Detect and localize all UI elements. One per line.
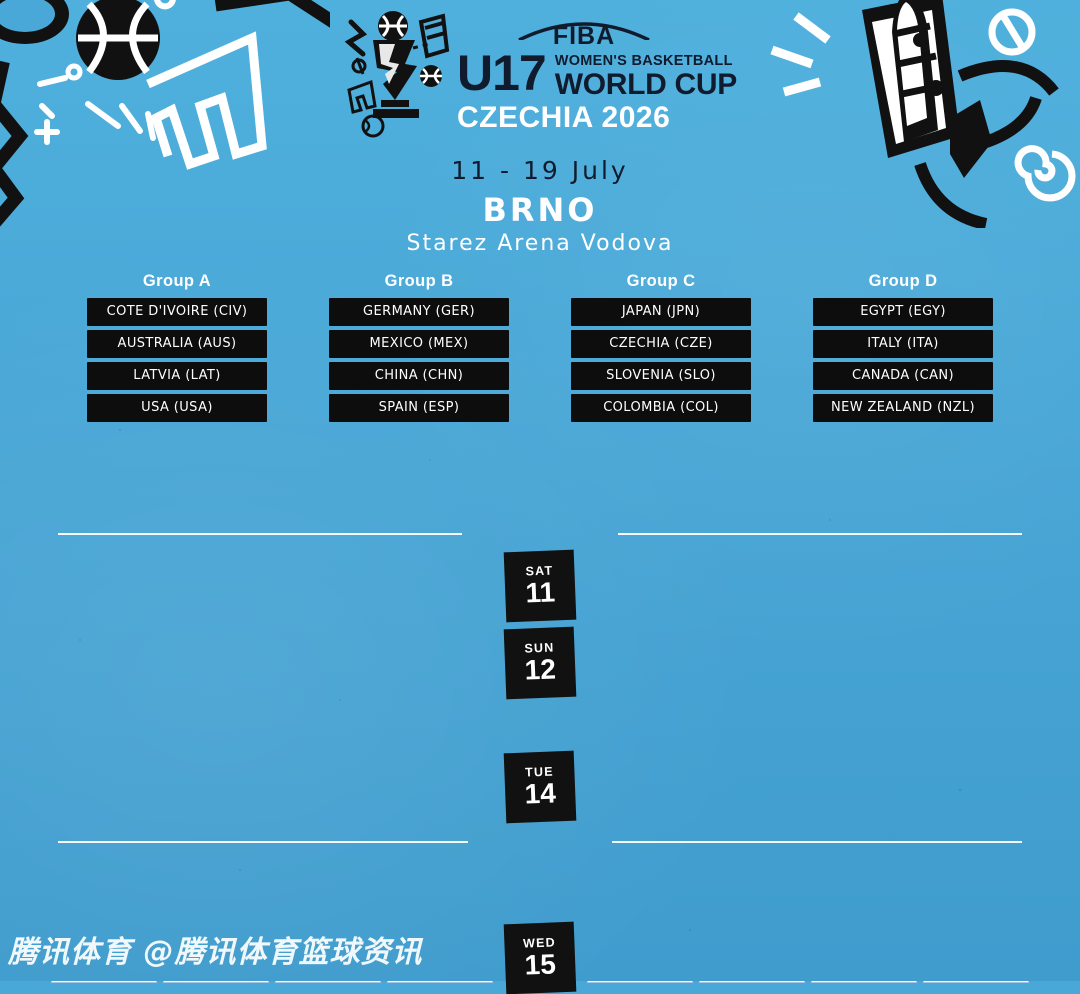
game-subtitle: (29): [590, 948, 690, 960]
game-card[interactable]: 3rd A - 2nd B(27)TIME AND VENUE TBA: [275, 923, 381, 983]
game-card-body: CHN - ESP(Group B): [387, 752, 493, 796]
game-card-body: EGY - ITA(Group D): [811, 752, 917, 796]
game-time-venue: TIME AND VENUE TBA: [387, 595, 493, 611]
game-time-venue: TIME AND VENUE TBA: [811, 595, 917, 611]
divider-rule-right: [618, 533, 1022, 535]
team-chip: GERMANY (GER): [329, 298, 509, 326]
game-card-body: MEX - CHN(Group B): [387, 551, 493, 595]
game-card[interactable]: GER - MEX(Group B)TIME AND VENUE TBA: [275, 752, 381, 812]
game-card-body: 4th A - 1st B(28): [387, 923, 493, 967]
game-matchup: MEX - CHN: [390, 559, 490, 574]
game-subtitle: (30): [702, 948, 802, 960]
date-day-of-week: SAT: [525, 564, 553, 578]
game-card[interactable]: 4th C - 1st D(32)TIME AND VENUE TBA: [923, 923, 1029, 983]
game-subtitle: (Group A): [54, 576, 154, 588]
game-card[interactable]: JPN - CZE(Group C)TIME AND VENUE TBA: [587, 752, 693, 812]
host-label: CZECHIA 2026: [457, 101, 737, 135]
game-matchup: CAN - NZL: [926, 760, 1026, 775]
game-card[interactable]: AUS - LAT(Group A)TIME AND VENUE TBA: [163, 551, 269, 611]
team-chip: LATVIA (LAT): [87, 362, 267, 390]
game-time-venue: TIME AND VENUE TBA: [51, 595, 157, 611]
hall-legend: Hall 2 Hall 1: [0, 488, 1080, 514]
game-card-body: CAN - EGY(Group D): [811, 628, 917, 672]
game-time-venue: TIME AND VENUE TBA: [51, 796, 157, 812]
game-card[interactable]: 3rd C - 2nd D(31)TIME AND VENUE TBA: [811, 923, 917, 983]
game-card-body: LAT - USA(Group A): [163, 752, 269, 796]
date-day-of-week: SUN: [524, 641, 554, 655]
team-chip: CHINA (CHN): [329, 362, 509, 390]
game-time-venue: TIME AND VENUE TBA: [923, 672, 1029, 688]
game-time-venue: TIME AND VENUE TBA: [587, 595, 693, 611]
hall1-label: Hall 1: [627, 491, 685, 512]
hall2-games: CIV - USA(Group A)TIME AND VENUE TBAAUS …: [51, 551, 493, 611]
team-chip: COTE D'IVOIRE (CIV): [87, 298, 267, 326]
team-chip: COLOMBIA (COL): [571, 394, 751, 422]
game-card-body: 3rd A - 2nd B(27): [275, 923, 381, 967]
schedule-day-row: 1st A - 4th B(25)TIME AND VENUE TBA2nd A…: [0, 923, 1080, 993]
hall2-games: CIV - AUS(Group A)TIME AND VENUE TBALAT …: [51, 752, 493, 812]
game-card-body: USA - AUS(Group A): [163, 628, 269, 672]
game-subtitle: (Group C): [590, 777, 690, 789]
group-title: Group D: [813, 272, 993, 291]
game-subtitle: (Group A): [54, 777, 154, 789]
game-subtitle: (Group D): [814, 777, 914, 789]
game-card-body: 2nd C - 3rd D(30): [699, 923, 805, 967]
game-subtitle: (Group D): [814, 653, 914, 665]
game-card-body: 1st C - 4th D(29): [587, 923, 693, 967]
hall2-games: LAT - CIV(Group A)TIME AND VENUE TBAUSA …: [51, 628, 493, 688]
game-matchup: EGY - ITA: [814, 760, 914, 775]
game-matchup: 4th C - 1st D: [926, 931, 1026, 946]
game-time-venue: TIME AND VENUE TBA: [163, 595, 269, 611]
game-subtitle: (28): [390, 948, 490, 960]
final-phase-label: FINAL PHASE: [480, 832, 600, 852]
game-card-body: GER - ESP(Group B): [275, 551, 381, 595]
fiba-logo: FIBA: [509, 22, 659, 52]
game-card-body: CIV - AUS(Group A): [51, 752, 157, 796]
game-subtitle: (Group B): [390, 777, 490, 789]
game-time-venue: TIME AND VENUE TBA: [275, 595, 381, 611]
game-matchup: EGY - NZL: [814, 559, 914, 574]
game-card-body: AUS - LAT(Group A): [163, 551, 269, 595]
date-day-number: 11: [525, 579, 556, 608]
game-card-body: 1st A - 4th B(25): [51, 923, 157, 967]
game-card[interactable]: GER - ESP(Group B)TIME AND VENUE TBA: [275, 551, 381, 611]
game-card[interactable]: 2nd A - 3rd B(26)TIME AND VENUE TBA: [163, 923, 269, 983]
game-matchup: NZL - ITA: [926, 636, 1026, 651]
event-dates: 11 - 19 July: [0, 156, 1080, 185]
game-subtitle: (Group D): [926, 576, 1026, 588]
game-matchup: CZE - SLO: [702, 559, 802, 574]
game-time-venue: TIME AND VENUE TBA: [275, 796, 381, 812]
game-card-body: CHN - GER(Group B): [275, 628, 381, 672]
game-time-venue: TIME AND VENUE TBA: [811, 672, 917, 688]
game-card[interactable]: MEX - CHN(Group B)TIME AND VENUE TBA: [387, 551, 493, 611]
game-subtitle: (Group B): [390, 653, 490, 665]
game-card-body: ESP - MEX(Group B): [387, 628, 493, 672]
game-matchup: ESP - MEX: [390, 636, 490, 651]
game-card[interactable]: 1st A - 4th B(25)TIME AND VENUE TBA: [51, 923, 157, 983]
game-subtitle: (Group B): [390, 576, 490, 588]
game-card[interactable]: SLO - COL(Group C)TIME AND VENUE TBA: [699, 752, 805, 812]
game-card-body: SLO - COL(Group C): [699, 752, 805, 796]
game-card[interactable]: NZL - ITA(Group D)TIME AND VENUE TBA: [923, 628, 1029, 688]
hall2-games: 1st A - 4th B(25)TIME AND VENUE TBA2nd A…: [51, 923, 493, 983]
game-matchup: SLO - COL: [702, 760, 802, 775]
poster-header: FIBA U17 WOMEN'S BASKETBALL WORLD CUP CZ…: [0, 0, 1080, 256]
game-card-body: JPN - CZE(Group C): [587, 752, 693, 796]
team-chip: SPAIN (ESP): [329, 394, 509, 422]
game-time-venue: TIME AND VENUE TBA: [163, 796, 269, 812]
game-card-body: 4th C - 1st D(32): [923, 923, 1029, 967]
game-matchup: CHN - GER: [278, 636, 378, 651]
game-card[interactable]: LAT - USA(Group A)TIME AND VENUE TBA: [163, 752, 269, 812]
schedule-day-row: LAT - CIV(Group A)TIME AND VENUE TBAUSA …: [0, 628, 1080, 698]
game-card-body: 2nd A - 3rd B(26): [163, 923, 269, 967]
game-subtitle: (Group C): [702, 777, 802, 789]
date-day-number: 15: [524, 951, 556, 980]
game-subtitle: (32): [926, 948, 1026, 960]
date-badge: SUN12: [504, 627, 577, 700]
game-subtitle: (Group B): [278, 777, 378, 789]
game-card[interactable]: CAN - NZL(Group D)TIME AND VENUE TBA: [923, 752, 1029, 812]
team-chip: USA (USA): [87, 394, 267, 422]
team-chip: EGYPT (EGY): [813, 298, 993, 326]
game-subtitle: (Group C): [702, 653, 802, 665]
game-card[interactable]: 2nd C - 3rd D(30)TIME AND VENUE TBA: [699, 923, 805, 983]
game-matchup: 3rd A - 2nd B: [278, 931, 378, 946]
date-badge: SAT11: [504, 550, 577, 623]
game-subtitle: (27): [278, 948, 378, 960]
game-matchup: COL - CZE: [702, 636, 802, 651]
game-card[interactable]: CZE - SLO(Group C)TIME AND VENUE TBA: [699, 551, 805, 611]
game-matchup: CIV - AUS: [54, 760, 154, 775]
date-day-number: 14: [524, 780, 556, 809]
hall1-games: JPN - CZE(Group C)TIME AND VENUE TBASLO …: [587, 752, 1029, 812]
game-matchup: 1st C - 4th D: [590, 931, 690, 946]
no-games-bar: MONDAY 13 JULY - NO GAMES: [58, 707, 1022, 745]
schedule-title: GAME SCHEDULE: [0, 440, 1080, 483]
game-subtitle: (Group B): [278, 576, 378, 588]
game-matchup: LAT - CIV: [54, 636, 154, 651]
discipline-label: WOMEN'S BASKETBALL: [555, 54, 737, 69]
game-matchup: USA - AUS: [166, 636, 266, 651]
group-phase-label: GROUP PHASE: [474, 524, 606, 544]
game-card-body: CAN - NZL(Group D): [923, 752, 1029, 796]
game-matchup: 2nd A - 3rd B: [166, 931, 266, 946]
game-card-body: EGY - NZL(Group D): [811, 551, 917, 595]
team-chip: CANADA (CAN): [813, 362, 993, 390]
host-venue: Starez Arena Vodova: [0, 231, 1080, 256]
game-time-venue: TIME AND VENUE TBA: [587, 796, 693, 812]
game-subtitle: (Group D): [926, 653, 1026, 665]
game-matchup: CAN - EGY: [814, 636, 914, 651]
groups-section: Group ACOTE D'IVOIRE (CIV)AUSTRALIA (AUS…: [0, 272, 1080, 426]
hall2-label: Hall 2: [395, 491, 453, 512]
date-day-of-week: TUE: [525, 765, 554, 779]
game-card-body: NZL - ITA(Group D): [923, 628, 1029, 672]
host-city: BRNO: [0, 191, 1080, 229]
game-card[interactable]: CIV - USA(Group A)TIME AND VENUE TBA: [51, 551, 157, 611]
game-matchup: 3rd C - 2nd D: [814, 931, 914, 946]
game-matchup: LAT - USA: [166, 760, 266, 775]
team-chip: CZECHIA (CZE): [571, 330, 751, 358]
game-subtitle: (25): [54, 948, 154, 960]
age-category-label: U17: [457, 50, 546, 96]
game-time-venue: TIME AND VENUE TBA: [387, 796, 493, 812]
game-card[interactable]: 1st C - 4th D(29)TIME AND VENUE TBA: [587, 923, 693, 983]
group-column: Group DEGYPT (EGY)ITALY (ITA)CANADA (CAN…: [813, 272, 993, 426]
game-matchup: CIV - USA: [54, 559, 154, 574]
game-card[interactable]: CHN - GER(Group B)TIME AND VENUE TBA: [275, 628, 381, 688]
game-card[interactable]: EGY - NZL(Group D)TIME AND VENUE TBA: [811, 551, 917, 611]
date-badge: TUE14: [504, 751, 577, 824]
game-card[interactable]: LAT - CIV(Group A)TIME AND VENUE TBA: [51, 628, 157, 688]
date-day-number: 12: [524, 656, 556, 685]
game-matchup: GER - MEX: [278, 760, 378, 775]
game-time-venue: TIME AND VENUE TBA: [163, 672, 269, 688]
game-subtitle: (Group D): [926, 777, 1026, 789]
group-title: Group B: [329, 272, 509, 291]
event-logo-row: FIBA U17 WOMEN'S BASKETBALL WORLD CUP CZ…: [0, 8, 1080, 148]
team-chip: SLOVENIA (SLO): [571, 362, 751, 390]
game-subtitle: (Group A): [166, 653, 266, 665]
final-phase-note: NOTE: The daily order of games may be su…: [0, 857, 1080, 871]
game-subtitle: (31): [814, 948, 914, 960]
game-time-venue: TIME AND VENUE TBA: [923, 595, 1029, 611]
team-chip: JAPAN (JPN): [571, 298, 751, 326]
game-card-body: LAT - CIV(Group A): [51, 628, 157, 672]
game-time-venue: TIME AND VENUE TBA: [699, 672, 805, 688]
team-chip: NEW ZEALAND (NZL): [813, 394, 993, 422]
team-chip: AUSTRALIA (AUS): [87, 330, 267, 358]
game-subtitle: (Group A): [166, 576, 266, 588]
game-card[interactable]: CHN - ESP(Group B)TIME AND VENUE TBA: [387, 752, 493, 812]
game-card[interactable]: JPN - COL(Group C)TIME AND VENUE TBA: [587, 551, 693, 611]
team-chip: MEXICO (MEX): [329, 330, 509, 358]
group-column: Group BGERMANY (GER)MEXICO (MEX)CHINA (C…: [329, 272, 509, 426]
divider-rule-left: [58, 841, 468, 843]
game-matchup: GER - ESP: [278, 559, 378, 574]
game-time-venue: TIME AND VENUE TBA: [699, 595, 805, 611]
game-matchup: CHN - ESP: [390, 760, 490, 775]
date-badge: WED15: [504, 922, 577, 994]
game-card[interactable]: CAN - EGY(Group D)TIME AND VENUE TBA: [811, 628, 917, 688]
event-wordmark: FIBA U17 WOMEN'S BASKETBALL WORLD CUP CZ…: [457, 8, 737, 135]
game-time-venue: TIME AND VENUE TBA: [275, 672, 381, 688]
game-subtitle: (Group C): [590, 576, 690, 588]
game-time-venue: TIME AND VENUE TBA: [699, 796, 805, 812]
game-subtitle: (Group A): [54, 653, 154, 665]
final-phase-divider: FINAL PHASE: [0, 832, 1080, 852]
game-card-body: 3rd C - 2nd D(31): [811, 923, 917, 967]
hall1-games: JPN - COL(Group C)TIME AND VENUE TBACZE …: [587, 551, 1029, 611]
game-card-body: COL - CZE(Group C): [699, 628, 805, 672]
schedule-day-row: CIV - USA(Group A)TIME AND VENUE TBAAUS …: [0, 551, 1080, 621]
game-subtitle: (Group C): [590, 653, 690, 665]
game-subtitle: (26): [166, 948, 266, 960]
game-card-body: CIV - USA(Group A): [51, 551, 157, 595]
game-matchup: JPN - CZE: [590, 760, 690, 775]
round-of-16-bar: ROUND OF 16: [58, 881, 1022, 916]
game-time-venue: TIME AND VENUE TBA: [923, 796, 1029, 812]
hall1-games: 1st C - 4th D(29)TIME AND VENUE TBA2nd C…: [587, 923, 1029, 983]
group-title: Group A: [87, 272, 267, 291]
schedule-days: CIV - USA(Group A)TIME AND VENUE TBAAUS …: [0, 551, 1080, 993]
game-card-body: SLO - JPN(Group C): [587, 628, 693, 672]
game-matchup: 4th A - 1st B: [390, 931, 490, 946]
game-time-venue: TIME AND VENUE TBA: [811, 796, 917, 812]
game-time-venue: TIME AND VENUE TBA: [387, 672, 493, 688]
game-card-body: GER - MEX(Group B): [275, 752, 381, 796]
divider-rule-left: [58, 533, 462, 535]
group-column: Group ACOTE D'IVOIRE (CIV)AUSTRALIA (AUS…: [87, 272, 267, 426]
game-card[interactable]: USA - AUS(Group A)TIME AND VENUE TBA: [163, 628, 269, 688]
hall1-games: SLO - JPN(Group C)TIME AND VENUE TBACOL …: [587, 628, 1029, 688]
divider-rule-right: [612, 841, 1022, 843]
group-phase-divider: GROUP PHASE: [0, 524, 1080, 544]
trophy-logo-icon: [343, 8, 451, 144]
game-matchup: SLO - JPN: [590, 636, 690, 651]
game-card-body: CZE - SLO(Group C): [699, 551, 805, 595]
game-card[interactable]: 4th A - 1st B(28)TIME AND VENUE TBA: [387, 923, 493, 983]
group-title: Group C: [571, 272, 751, 291]
title-line: U17 WOMEN'S BASKETBALL WORLD CUP: [457, 50, 737, 100]
game-matchup: 2nd C - 3rd D: [702, 931, 802, 946]
hall2-color-swatch: [463, 488, 535, 514]
game-time-venue: TIME AND VENUE TBA: [587, 672, 693, 688]
game-time-venue: TIME AND VENUE TBA: [51, 672, 157, 688]
competition-label: WORLD CUP: [555, 70, 737, 101]
game-card[interactable]: SLO - JPN(Group C)TIME AND VENUE TBA: [587, 628, 693, 688]
game-card[interactable]: ITA - CAN(Group D)TIME AND VENUE TBA: [923, 551, 1029, 611]
game-matchup: 1st A - 4th B: [54, 931, 154, 946]
game-matchup: ITA - CAN: [926, 559, 1026, 574]
schedule-day-row: CIV - AUS(Group A)TIME AND VENUE TBALAT …: [0, 752, 1080, 822]
team-chip: ITALY (ITA): [813, 330, 993, 358]
game-subtitle: (Group D): [814, 576, 914, 588]
game-card[interactable]: ESP - MEX(Group B)TIME AND VENUE TBA: [387, 628, 493, 688]
game-card-body: ITA - CAN(Group D): [923, 551, 1029, 595]
game-card[interactable]: COL - CZE(Group C)TIME AND VENUE TBA: [699, 628, 805, 688]
game-subtitle: (Group B): [278, 653, 378, 665]
hall1-color-swatch: [545, 488, 617, 514]
game-matchup: AUS - LAT: [166, 559, 266, 574]
game-card[interactable]: CIV - AUS(Group A)TIME AND VENUE TBA: [51, 752, 157, 812]
game-subtitle: (Group C): [702, 576, 802, 588]
game-subtitle: (Group A): [166, 777, 266, 789]
game-card[interactable]: EGY - ITA(Group D)TIME AND VENUE TBA: [811, 752, 917, 812]
fiba-arc-icon: [509, 18, 659, 40]
game-card-body: JPN - COL(Group C): [587, 551, 693, 595]
group-column: Group CJAPAN (JPN)CZECHIA (CZE)SLOVENIA …: [571, 272, 751, 426]
game-matchup: JPN - COL: [590, 559, 690, 574]
